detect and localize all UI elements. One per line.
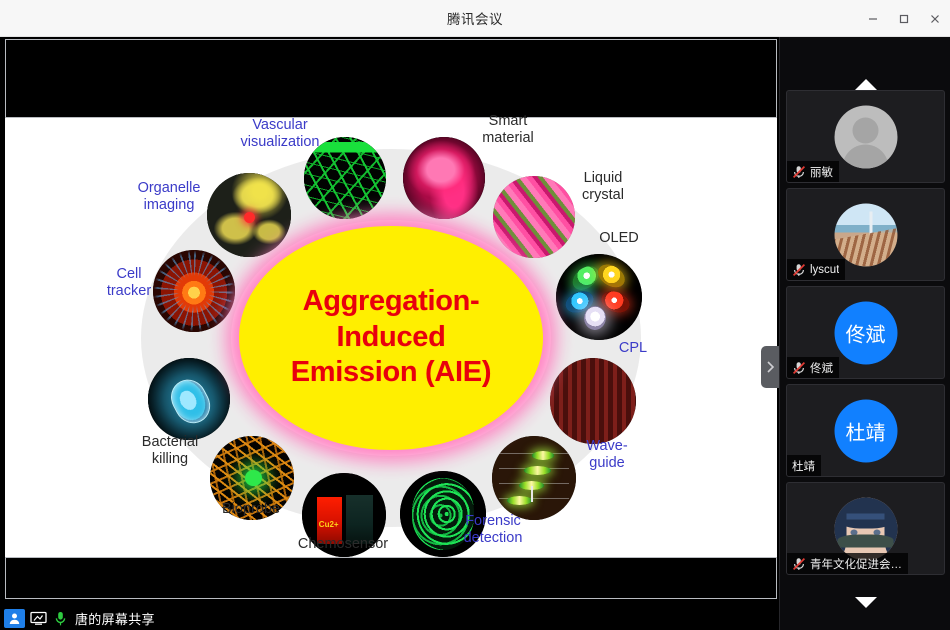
node-image-bacterial-killing (148, 358, 230, 440)
tencent-meeting-window: 腾讯会议 (0, 0, 950, 630)
avatar: 佟斌 (834, 301, 897, 364)
shared-screen-region: Organelle imaging Vascular visualization… (0, 37, 779, 630)
avatar: 杜靖 (834, 399, 897, 462)
participants-icon[interactable] (4, 609, 25, 628)
slide-frame: Organelle imaging Vascular visualization… (5, 39, 777, 599)
node-label-oled: OLED (579, 230, 659, 247)
node-image-oled (556, 254, 642, 340)
screen-share-label: 唐的屏幕共享 (75, 609, 155, 628)
node-label-waveguide: Wave- guide (571, 438, 643, 472)
minimize-button[interactable] (857, 0, 888, 37)
node-label-cell-tracker: Cell tracker (95, 266, 163, 300)
participant-name: lyscut (810, 264, 839, 276)
aie-applications-slide: Organelle imaging Vascular visualization… (5, 117, 777, 557)
aie-title: Aggregation- Induced Emission (AIE) (291, 284, 491, 390)
node-label-vascular-visualization: Vascular visualization (217, 117, 343, 151)
participant-name-bar: lyscut (787, 259, 845, 280)
participant-tile[interactable]: 丽敏 (786, 90, 945, 183)
slide-letterbox-top (5, 39, 777, 117)
aie-center-callout: Aggregation- Induced Emission (AIE) (226, 214, 556, 462)
microphone-icon[interactable] (51, 609, 69, 627)
avatar (834, 497, 897, 560)
node-image-cell-tracker (153, 250, 235, 332)
participant-name-bar: 青年文化促进会… (787, 553, 908, 574)
triangle-up-icon (855, 79, 877, 90)
participant-name-bar: 丽敏 (787, 161, 839, 182)
meeting-body: Organelle imaging Vascular visualization… (0, 37, 950, 630)
participant-tiles: 丽敏 lyscut (780, 90, 950, 620)
microphone-muted-icon (792, 263, 806, 277)
node-label-bioprobe: Bioprobe (191, 501, 311, 518)
triangle-down-icon (855, 597, 877, 608)
screen-share-status-bar: 唐的屏幕共享 (0, 606, 779, 630)
participant-tile[interactable]: 佟斌 佟斌 (786, 286, 945, 379)
node-label-chemosensor: Chemosensor (270, 536, 416, 553)
screen-share-icon[interactable] (29, 609, 47, 627)
chevron-right-icon (766, 360, 775, 374)
node-label-bacterial-killing: Bacterial killing (115, 434, 225, 468)
node-label-organelle-imaging: Organelle imaging (123, 180, 215, 214)
participant-tile[interactable]: 青年文化促进会… (786, 482, 945, 575)
participant-name-bar: 佟斌 (787, 357, 839, 378)
participant-name: 佟斌 (810, 360, 833, 376)
node-label-liquid-crystal: Liquid crystal (557, 170, 649, 204)
scroll-down-button[interactable] (780, 587, 950, 617)
collapse-panel-handle[interactable] (761, 346, 779, 388)
microphone-muted-icon (792, 361, 806, 375)
node-image-cpl (550, 358, 636, 444)
participants-sidebar: 丽敏 lyscut (779, 37, 950, 630)
node-image-smart-material (403, 137, 485, 219)
chemosensor-ion-label: Cu2+ (319, 520, 339, 529)
maximize-button[interactable] (888, 0, 919, 37)
participant-tile[interactable]: 杜靖 杜靖 (786, 384, 945, 477)
participant-name-bar: 杜靖 (787, 455, 821, 476)
participant-name: 青年文化促进会… (810, 556, 902, 572)
microphone-muted-icon (792, 557, 806, 571)
avatar (834, 203, 897, 266)
participant-tile[interactable]: lyscut (786, 188, 945, 281)
node-label-forensic-detection: Forensic detection (440, 513, 546, 547)
window-controls (857, 0, 950, 37)
node-label-cpl: CPL (603, 340, 663, 357)
node-label-smart-material: Smart material (453, 113, 563, 147)
avatar (834, 105, 897, 168)
title-bar: 腾讯会议 (0, 0, 950, 37)
window-title: 腾讯会议 (447, 8, 503, 28)
participant-name: 杜靖 (792, 458, 815, 474)
microphone-muted-icon (792, 165, 806, 179)
slide-letterbox-bottom (5, 557, 777, 599)
participant-name: 丽敏 (810, 164, 833, 180)
close-button[interactable] (919, 0, 950, 37)
